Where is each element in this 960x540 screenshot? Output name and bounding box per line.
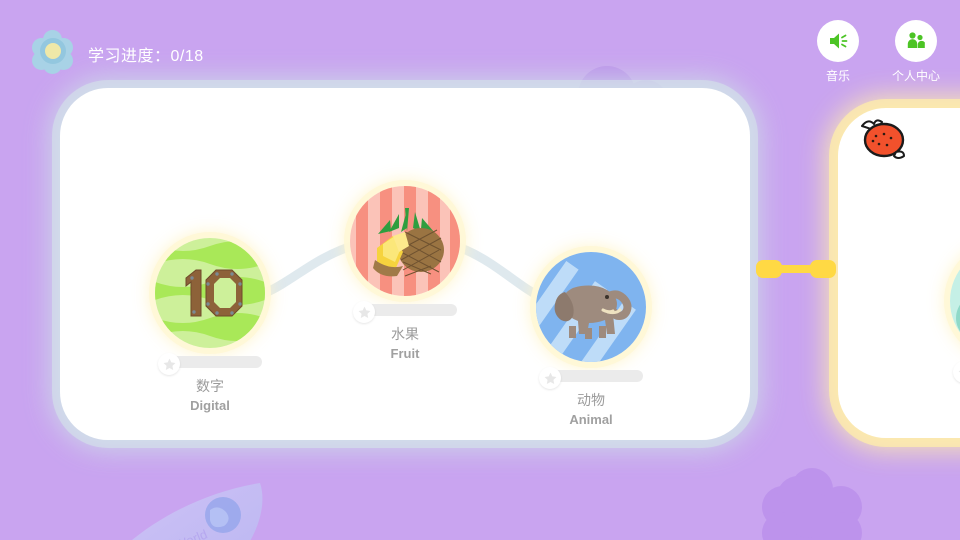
lesson-node-fruit-circle[interactable]	[350, 186, 460, 296]
music-button-circle[interactable]	[817, 20, 859, 62]
lesson-node-digital-circle[interactable]	[155, 238, 265, 348]
lesson-node-digital[interactable]: 数字 Digital	[135, 238, 285, 413]
background-flower-decoration	[762, 468, 862, 540]
music-button-label: 音乐	[826, 67, 850, 84]
star-icon	[158, 353, 180, 375]
bread-icon	[950, 246, 960, 356]
star-icon	[953, 361, 960, 383]
lesson-node-next-circle[interactable]	[950, 246, 960, 356]
star-icon	[539, 367, 561, 389]
lesson-node-animal-label-cn: 动物	[577, 390, 605, 410]
personal-center-button-circle[interactable]	[895, 20, 937, 62]
star-icon	[353, 301, 375, 323]
elephant-icon	[536, 252, 646, 362]
header-bar: 学习进度：0/18 音乐 个人	[0, 0, 960, 92]
rocket-text: The World	[149, 526, 210, 540]
strawberry-icon	[856, 116, 910, 164]
connector-knob-left	[756, 260, 782, 278]
lesson-node-fruit-label-en: Fruit	[391, 346, 420, 361]
lesson-node-animal-label-en: Animal	[569, 412, 612, 427]
personal-center-button-label: 个人中心	[892, 67, 940, 84]
pineapple-icon	[350, 186, 460, 296]
card-connector	[756, 260, 836, 278]
connector-knob-right	[810, 260, 836, 278]
people-icon	[904, 29, 928, 53]
lesson-node-animal[interactable]: 动物 Animal	[516, 252, 666, 427]
lesson-node-digital-label-cn: 数字	[196, 376, 224, 396]
personal-center-button[interactable]: 个人中心	[890, 20, 942, 84]
learning-progress-text: 学习进度：0/18	[88, 42, 204, 66]
progress-bar-track	[365, 304, 457, 316]
lesson-node-fruit-label-cn: 水果	[391, 324, 419, 344]
lesson-card-next[interactable]	[838, 108, 960, 438]
top-action-group: 音乐 个人中心	[812, 20, 942, 84]
speaker-icon	[826, 29, 850, 53]
music-button[interactable]: 音乐	[812, 20, 864, 84]
progress-bar-track	[170, 356, 262, 368]
lesson-node-digital-label-en: Digital	[190, 398, 230, 413]
lesson-node-animal-circle[interactable]	[536, 252, 646, 362]
lesson-node-next[interactable]	[930, 246, 960, 377]
number-10-wooden-icon	[155, 238, 265, 348]
progress-bar-track	[551, 370, 643, 382]
background-rocket-decoration: The World	[45, 455, 345, 540]
lesson-node-digital-progress	[158, 355, 262, 369]
lesson-node-fruit[interactable]: 水果 Fruit	[330, 186, 480, 361]
flower-icon	[32, 30, 74, 72]
lesson-node-next-progress	[953, 363, 960, 377]
lesson-node-fruit-progress	[353, 303, 457, 317]
lesson-node-animal-progress	[539, 369, 643, 383]
